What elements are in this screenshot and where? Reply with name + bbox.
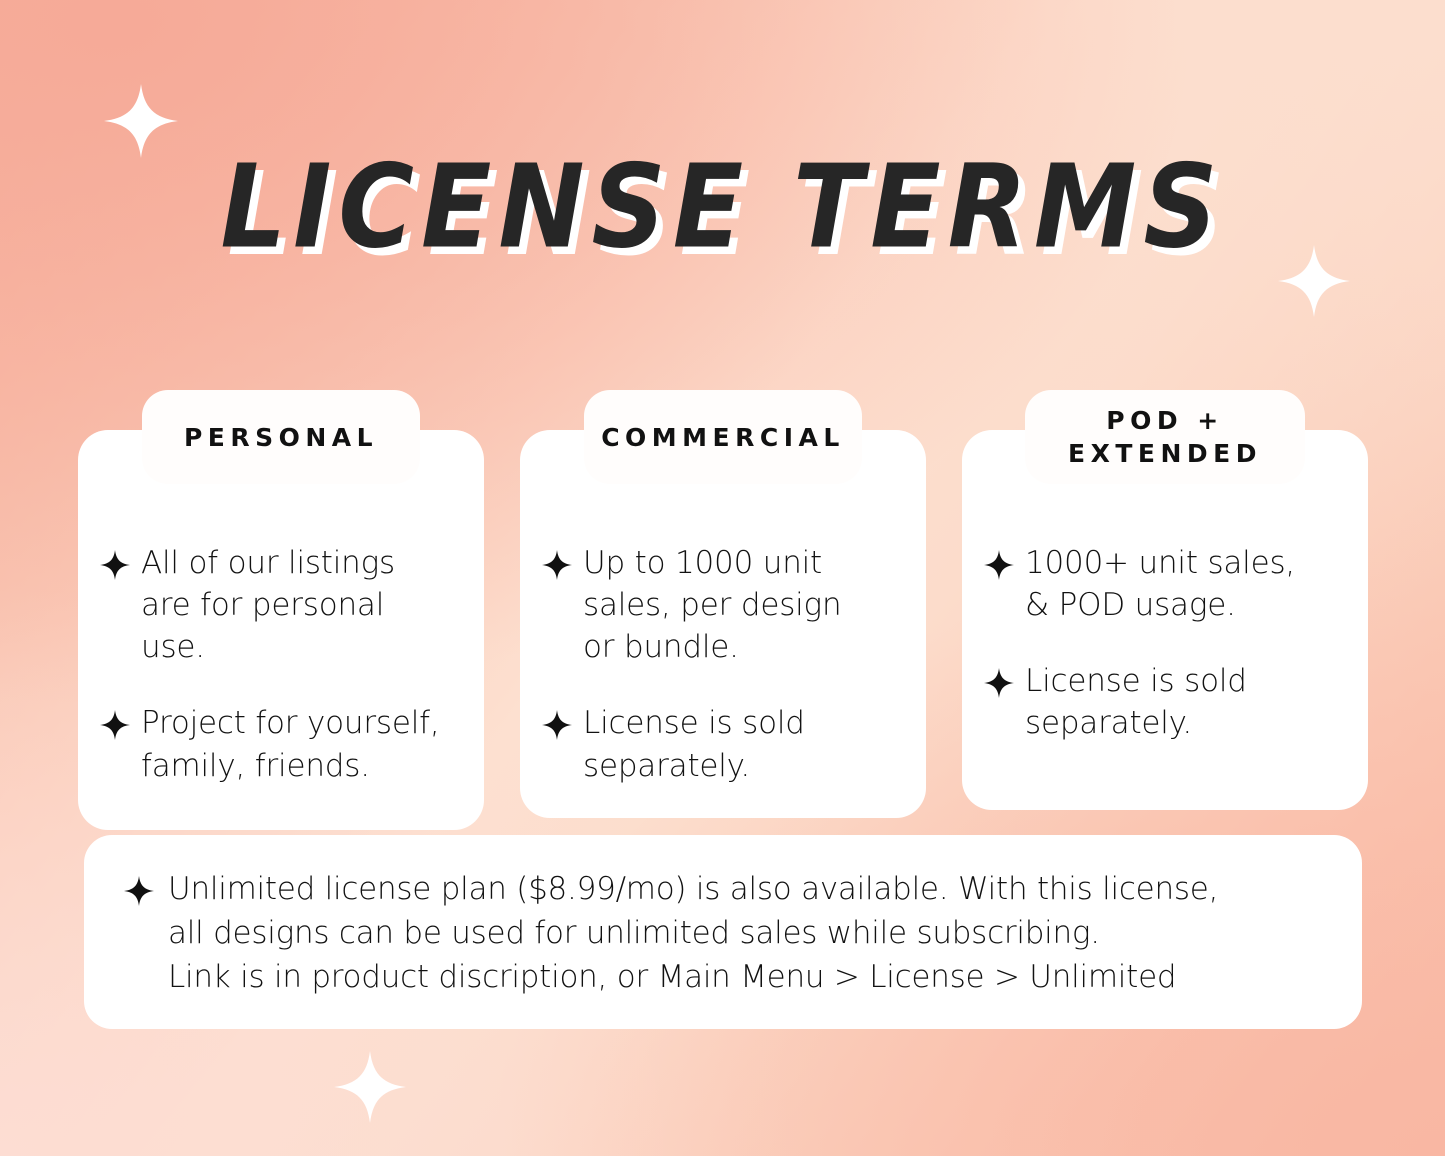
sparkle-bullet-icon xyxy=(124,876,154,906)
card-header-label: POD + EXTENDED xyxy=(1037,404,1293,470)
sparkle-bullet-icon xyxy=(984,668,1014,698)
list-item: License is sold separately. xyxy=(984,660,1346,744)
unlimited-plan-banner: Unlimited license plan ($8.99/mo) is als… xyxy=(84,835,1362,1029)
card-header-label: PERSONAL xyxy=(184,421,378,454)
page-title-container: LICENSE TERMS xyxy=(0,150,1445,253)
license-card-personal: PERSONAL All of our listings are for per… xyxy=(78,350,484,830)
license-card-pod-extended: POD + EXTENDED 1000+ unit sales, & POD u… xyxy=(962,350,1368,830)
license-card-row: PERSONAL All of our listings are for per… xyxy=(78,350,1368,830)
license-card-commercial: COMMERCIAL Up to 1000 unit sales, per de… xyxy=(520,350,926,830)
list-item-text: 1000+ unit sales, & POD usage. xyxy=(1025,542,1295,626)
sparkle-bullet-icon xyxy=(984,550,1014,580)
unlimited-plan-text: Unlimited license plan ($8.99/mo) is als… xyxy=(168,867,1218,999)
sparkle-bottom-icon xyxy=(334,1051,406,1123)
sparkle-top-right-icon xyxy=(1278,245,1350,317)
card-body-commercial: Up to 1000 unit sales, per design or bun… xyxy=(520,430,926,818)
card-header-personal: PERSONAL xyxy=(142,390,420,484)
bullet-list: All of our listings are for personal use… xyxy=(100,542,462,787)
page-title: LICENSE TERMS xyxy=(220,150,1224,265)
sparkle-top-left-icon xyxy=(104,84,178,158)
card-body-personal: All of our listings are for personal use… xyxy=(78,430,484,830)
card-header-pod-extended: POD + EXTENDED xyxy=(1025,390,1305,484)
card-header-label: COMMERCIAL xyxy=(601,421,845,454)
list-item: License is sold separately. xyxy=(542,702,904,786)
list-item: Up to 1000 unit sales, per design or bun… xyxy=(542,542,904,668)
sparkle-bullet-icon xyxy=(100,710,130,740)
list-item-text: Project for yourself, family, friends. xyxy=(141,702,440,786)
bullet-list: 1000+ unit sales, & POD usage. License i… xyxy=(984,542,1346,745)
list-item-text: All of our listings are for personal use… xyxy=(141,542,395,668)
card-header-commercial: COMMERCIAL xyxy=(584,390,862,484)
list-item: 1000+ unit sales, & POD usage. xyxy=(984,542,1346,626)
list-item-text: Up to 1000 unit sales, per design or bun… xyxy=(583,542,841,668)
list-item-text: License is sold separately. xyxy=(583,702,805,786)
list-item: All of our listings are for personal use… xyxy=(100,542,462,668)
list-item-text: License is sold separately. xyxy=(1025,660,1247,744)
list-item: Project for yourself, family, friends. xyxy=(100,702,462,786)
card-body-pod-extended: 1000+ unit sales, & POD usage. License i… xyxy=(962,430,1368,810)
sparkle-bullet-icon xyxy=(542,550,572,580)
bullet-list: Up to 1000 unit sales, per design or bun… xyxy=(542,542,904,787)
sparkle-bullet-icon xyxy=(542,710,572,740)
sparkle-bullet-icon xyxy=(100,550,130,580)
